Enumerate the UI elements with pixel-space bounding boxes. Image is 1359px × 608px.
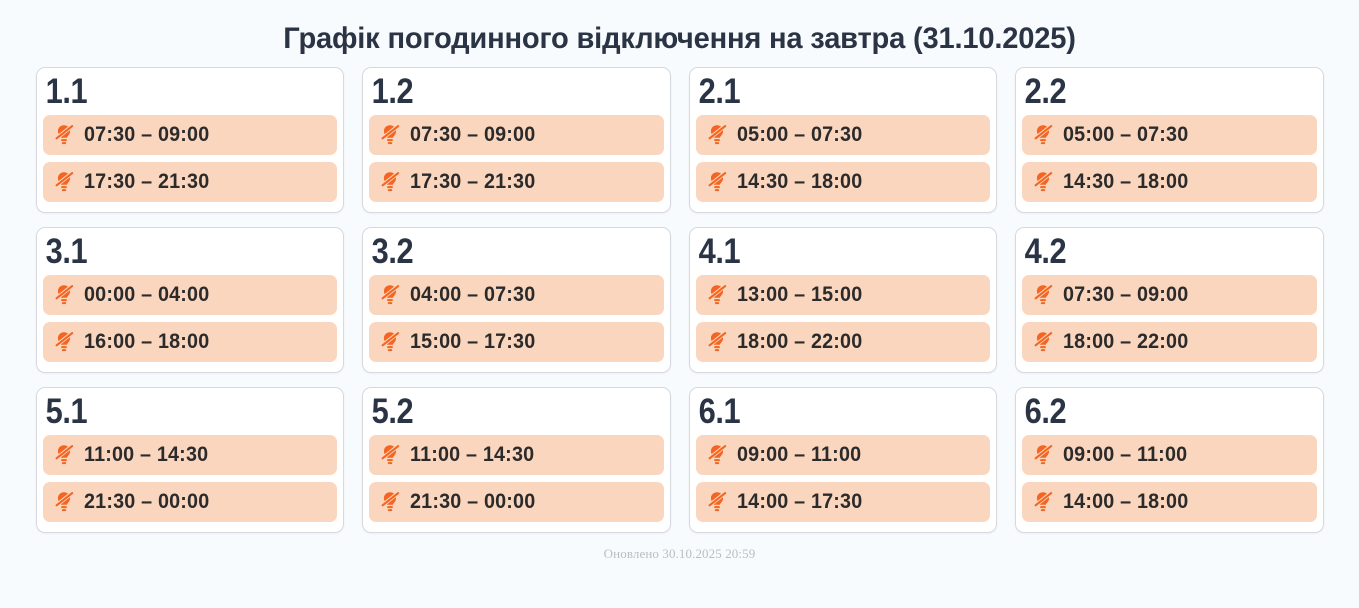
outage-slot[interactable]: 14:30 – 18:00 — [696, 162, 991, 202]
outage-slot[interactable]: 11:00 – 14:30 — [43, 435, 338, 475]
group-label: 3.2 — [369, 233, 628, 275]
group-label: 5.2 — [369, 393, 628, 435]
outage-slot-list: 07:30 – 09:0017:30 – 21:30 — [369, 115, 664, 202]
outage-schedule-page: Графік погодинного відключення на завтра… — [0, 0, 1359, 608]
outage-slot[interactable]: 21:30 – 00:00 — [43, 482, 338, 522]
lightbulb-off-icon — [378, 443, 402, 467]
outage-slot[interactable]: 18:00 – 22:00 — [1022, 322, 1317, 362]
lightbulb-off-icon — [52, 330, 76, 354]
outage-slot-time: 18:00 – 22:00 — [1063, 330, 1188, 354]
updated-timestamp: Оновлено 30.10.2025 20:59 — [604, 533, 756, 562]
outage-slot-list: 05:00 – 07:3014:30 – 18:00 — [1022, 115, 1317, 202]
outage-slot-list: 04:00 – 07:3015:00 – 17:30 — [369, 275, 664, 362]
outage-slot-time: 14:00 – 18:00 — [1063, 490, 1188, 514]
outage-slot[interactable]: 16:00 – 18:00 — [43, 322, 338, 362]
outage-slot-time: 09:00 – 11:00 — [737, 443, 861, 467]
outage-slot[interactable]: 17:30 – 21:30 — [369, 162, 664, 202]
outage-slot[interactable]: 21:30 – 00:00 — [369, 482, 664, 522]
outage-slot-time: 09:00 – 11:00 — [1063, 443, 1187, 467]
lightbulb-off-icon — [1031, 283, 1055, 307]
group-label: 6.1 — [696, 393, 955, 435]
outage-slot-time: 11:00 – 14:30 — [410, 443, 534, 467]
lightbulb-off-icon — [705, 170, 729, 194]
outage-slot[interactable]: 11:00 – 14:30 — [369, 435, 664, 475]
outage-slot-time: 21:30 – 00:00 — [84, 490, 209, 514]
outage-slot[interactable]: 14:00 – 18:00 — [1022, 482, 1317, 522]
lightbulb-off-icon — [52, 490, 76, 514]
outage-slot-list: 09:00 – 11:0014:00 – 17:30 — [696, 435, 991, 522]
lightbulb-off-icon — [52, 283, 76, 307]
lightbulb-off-icon — [378, 283, 402, 307]
outage-slot[interactable]: 07:30 – 09:00 — [43, 115, 338, 155]
outage-slot[interactable]: 09:00 – 11:00 — [696, 435, 991, 475]
outage-slot[interactable]: 09:00 – 11:00 — [1022, 435, 1317, 475]
lightbulb-off-icon — [705, 123, 729, 147]
lightbulb-off-icon — [705, 283, 729, 307]
group-label: 5.1 — [43, 393, 302, 435]
outage-slot-time: 17:30 – 21:30 — [410, 170, 535, 194]
outage-slot-list: 11:00 – 14:3021:30 – 00:00 — [43, 435, 338, 522]
outage-slot-time: 13:00 – 15:00 — [737, 283, 862, 307]
group-label: 2.2 — [1022, 73, 1281, 115]
lightbulb-off-icon — [378, 490, 402, 514]
outage-slot-time: 04:00 – 07:30 — [410, 283, 535, 307]
outage-slot[interactable]: 17:30 – 21:30 — [43, 162, 338, 202]
lightbulb-off-icon — [1031, 443, 1055, 467]
outage-slot-list: 09:00 – 11:0014:00 – 18:00 — [1022, 435, 1317, 522]
group-label: 2.1 — [696, 73, 955, 115]
lightbulb-off-icon — [1031, 123, 1055, 147]
outage-slot-time: 07:30 – 09:00 — [1063, 283, 1188, 307]
group-card[interactable]: 4.207:30 – 09:0018:00 – 22:00 — [1015, 227, 1324, 373]
outage-slot-time: 11:00 – 14:30 — [84, 443, 208, 467]
lightbulb-off-icon — [378, 170, 402, 194]
outage-slot[interactable]: 04:00 – 07:30 — [369, 275, 664, 315]
outage-slot[interactable]: 05:00 – 07:30 — [1022, 115, 1317, 155]
group-label: 6.2 — [1022, 393, 1281, 435]
outage-slot-time: 17:30 – 21:30 — [84, 170, 209, 194]
lightbulb-off-icon — [1031, 170, 1055, 194]
group-card[interactable]: 3.100:00 – 04:0016:00 – 18:00 — [36, 227, 345, 373]
lightbulb-off-icon — [705, 330, 729, 354]
outage-slot-time: 14:30 – 18:00 — [1063, 170, 1188, 194]
outage-slot-list: 11:00 – 14:3021:30 – 00:00 — [369, 435, 664, 522]
outage-slot-time: 07:30 – 09:00 — [84, 123, 209, 147]
group-card[interactable]: 6.109:00 – 11:0014:00 – 17:30 — [689, 387, 998, 533]
lightbulb-off-icon — [52, 123, 76, 147]
outage-slot-list: 07:30 – 09:0018:00 – 22:00 — [1022, 275, 1317, 362]
group-card[interactable]: 4.113:00 – 15:0018:00 – 22:00 — [689, 227, 998, 373]
outage-slot-list: 07:30 – 09:0017:30 – 21:30 — [43, 115, 338, 202]
group-card[interactable]: 1.107:30 – 09:0017:30 – 21:30 — [36, 67, 345, 213]
group-card[interactable]: 3.204:00 – 07:3015:00 – 17:30 — [362, 227, 671, 373]
group-label: 1.1 — [43, 73, 302, 115]
outage-slot[interactable]: 15:00 – 17:30 — [369, 322, 664, 362]
group-card[interactable]: 5.111:00 – 14:3021:30 – 00:00 — [36, 387, 345, 533]
outage-slot[interactable]: 00:00 – 04:00 — [43, 275, 338, 315]
group-card[interactable]: 5.211:00 – 14:3021:30 – 00:00 — [362, 387, 671, 533]
outage-slot-list: 05:00 – 07:3014:30 – 18:00 — [696, 115, 991, 202]
outage-slot[interactable]: 18:00 – 22:00 — [696, 322, 991, 362]
outage-slot[interactable]: 05:00 – 07:30 — [696, 115, 991, 155]
lightbulb-off-icon — [52, 443, 76, 467]
lightbulb-off-icon — [378, 330, 402, 354]
lightbulb-off-icon — [1031, 330, 1055, 354]
outage-slot-time: 14:00 – 17:30 — [737, 490, 862, 514]
groups-grid: 1.107:30 – 09:0017:30 – 21:301.207:30 – … — [36, 67, 1324, 533]
outage-slot-time: 16:00 – 18:00 — [84, 330, 209, 354]
outage-slot-time: 15:00 – 17:30 — [410, 330, 535, 354]
outage-slot-time: 14:30 – 18:00 — [737, 170, 862, 194]
page-title: Графік погодинного відключення на завтра… — [283, 0, 1075, 67]
outage-slot-time: 18:00 – 22:00 — [737, 330, 862, 354]
outage-slot[interactable]: 14:00 – 17:30 — [696, 482, 991, 522]
lightbulb-off-icon — [1031, 490, 1055, 514]
lightbulb-off-icon — [52, 170, 76, 194]
outage-slot-list: 13:00 – 15:0018:00 – 22:00 — [696, 275, 991, 362]
outage-slot-time: 05:00 – 07:30 — [1063, 123, 1188, 147]
lightbulb-off-icon — [378, 123, 402, 147]
group-card[interactable]: 2.105:00 – 07:3014:30 – 18:00 — [689, 67, 998, 213]
group-card[interactable]: 1.207:30 – 09:0017:30 – 21:30 — [362, 67, 671, 213]
group-card[interactable]: 6.209:00 – 11:0014:00 – 18:00 — [1015, 387, 1324, 533]
outage-slot[interactable]: 07:30 – 09:00 — [1022, 275, 1317, 315]
outage-slot-time: 05:00 – 07:30 — [737, 123, 862, 147]
group-label: 3.1 — [43, 233, 302, 275]
group-card[interactable]: 2.205:00 – 07:3014:30 – 18:00 — [1015, 67, 1324, 213]
outage-slot[interactable]: 14:30 – 18:00 — [1022, 162, 1317, 202]
lightbulb-off-icon — [705, 490, 729, 514]
lightbulb-off-icon — [705, 443, 729, 467]
outage-slot-time: 07:30 – 09:00 — [410, 123, 535, 147]
group-label: 4.1 — [696, 233, 955, 275]
outage-slot-list: 00:00 – 04:0016:00 – 18:00 — [43, 275, 338, 362]
group-label: 4.2 — [1022, 233, 1281, 275]
group-label: 1.2 — [369, 73, 628, 115]
outage-slot-time: 00:00 – 04:00 — [84, 283, 209, 307]
outage-slot[interactable]: 07:30 – 09:00 — [369, 115, 664, 155]
outage-slot[interactable]: 13:00 – 15:00 — [696, 275, 991, 315]
outage-slot-time: 21:30 – 00:00 — [410, 490, 535, 514]
